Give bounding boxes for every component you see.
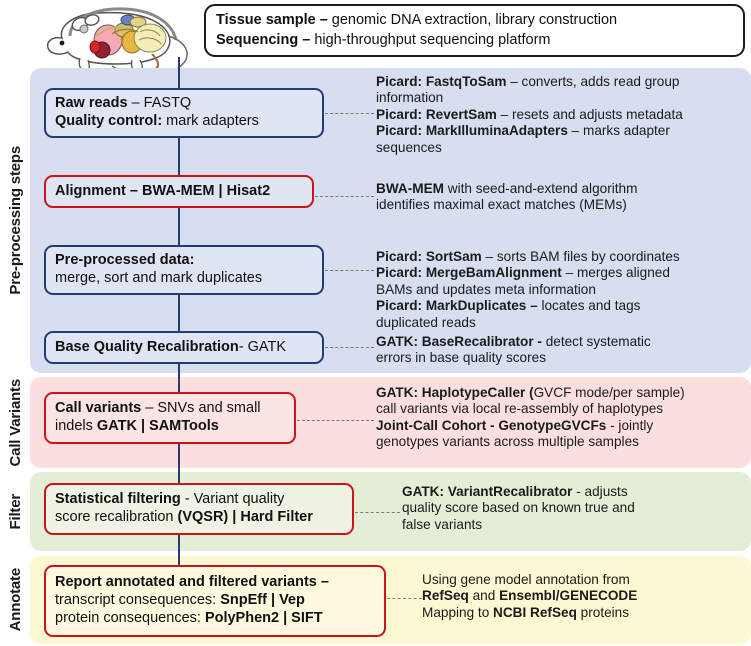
note-bqsr: GATK: BaseRecalibrator - detect systemat… [376, 334, 748, 367]
step-alignment-line1: Alignment – BWA-MEM | Hisat2 [55, 183, 303, 201]
header-line-tissue: Tissue sample – genomic DNA extraction, … [216, 11, 733, 30]
step-box-alignment[interactable]: Alignment – BWA-MEM | Hisat2 [44, 175, 314, 208]
note-filtering-line-2: false variants [402, 517, 748, 533]
note-bqsr-text-0: detect systematic [542, 334, 651, 349]
step-report-line3: protein consequences: PolyPhen2 | SIFT [55, 610, 375, 628]
note-bqsr-line-1: errors in base quality scores [376, 350, 748, 366]
step-raw-reads-qc-text: mark adapters [162, 113, 259, 129]
note-preprocessed-line-4: duplicated reads [376, 315, 748, 331]
note-raw-reads-line-3: Picard: MarkIlluminaAdapters – marks ada… [376, 123, 748, 139]
note-raw-reads-bold-0: Picard: FastqToSam [376, 74, 506, 89]
stage-label-call-variants-text: Call Variants [7, 379, 24, 466]
connector-preprocessed [325, 270, 374, 271]
stage-label-annotate: Annotate [0, 556, 30, 644]
header-sequencing-label: Sequencing – [216, 32, 314, 48]
note-annotation-bold2-2: NCBI RefSeq [493, 605, 577, 620]
step-filtering-recal-text: score recalibration [55, 509, 178, 525]
step-box-pre-processed-data[interactable]: Pre-processed data: merge, sort and mark… [44, 245, 324, 295]
note-call-variants: GATK: HaplotypeCaller (GVCF mode/per sam… [376, 385, 748, 451]
tissue-sequencing-header: Tissue sample – genomic DNA extraction, … [204, 4, 745, 57]
note-call-variants-line-2: Joint-Call Cohort - GenotypeGVCFs - join… [376, 418, 748, 434]
note-annotation-bold2-1: Ensembl/GENECODE [499, 588, 637, 603]
note-call-variants-text-3: genotypes variants across multiple sampl… [376, 434, 639, 449]
note-raw-reads-text-1: information [376, 90, 443, 105]
note-raw-reads-line-0: Picard: FastqToSam – converts, adds read… [376, 74, 748, 90]
note-preprocessed-text-3: locates and tags [538, 298, 641, 313]
note-annotation-line-0: Using gene model annotation from [422, 572, 748, 588]
note-preprocessed-line-3: Picard: MarkDuplicates – locates and tag… [376, 298, 748, 314]
note-preprocessed-bold-1: Picard: MergeBamAlignment [376, 265, 562, 280]
step-bqsr-title: Base Quality Recalibration [55, 339, 239, 355]
note-call-variants-line-0: GATK: HaplotypeCaller (GVCF mode/per sam… [376, 385, 748, 401]
step-bqsr-tool: - GATK [239, 339, 286, 355]
note-preprocessed-text-1: – merges aligned [562, 265, 670, 280]
step-report-line2: transcript consequences: SnpEff | Vep [55, 592, 375, 610]
note-bqsr-line-0: GATK: BaseRecalibrator - detect systemat… [376, 334, 748, 350]
note-call-variants-bold-2: Joint-Call Cohort - GenotypeGVCFs [376, 418, 606, 433]
note-preprocessed-text-4: duplicated reads [376, 315, 476, 330]
step-report-protein-tools: PolyPhen2 | SIFT [205, 610, 323, 626]
note-bqsr-bold-0: GATK: BaseRecalibrator - [376, 334, 542, 349]
note-bqsr-text-1: errors in base quality scores [376, 350, 546, 365]
step-callvariants-indels-text: indels [55, 418, 97, 434]
step-box-base-quality-recalibration[interactable]: Base Quality Recalibration- GATK [44, 331, 324, 364]
step-raw-reads-title: Raw reads [55, 95, 128, 111]
note-annotation-text-2: Mapping to [422, 605, 493, 620]
note-preprocessed-text-0: – sorts BAM files by coordinates [482, 249, 680, 264]
note-raw-reads-line-1: information [376, 90, 748, 106]
step-report-transcript-tools: SnpEff | Vep [220, 592, 305, 608]
step-alignment-title: Alignment – BWA-MEM | Hisat2 [55, 183, 270, 199]
step-report-protein-text: protein consequences: [55, 610, 205, 626]
note-call-variants-text-2: - jointly [606, 418, 653, 433]
step-preprocessed-line1: Pre-processed data: [55, 252, 313, 270]
note-annotation-text2-2: proteins [577, 605, 629, 620]
workflow-diagram: Tissue sample – genomic DNA extraction, … [0, 0, 751, 646]
note-preprocessed-text-2: BAMs and updates meta information [376, 282, 596, 297]
step-report-title: Report annotated and filtered variants – [55, 574, 329, 590]
note-raw-reads-line-2: Picard: RevertSam – resets and adjusts m… [376, 107, 748, 123]
step-raw-reads-line1: Raw reads – FASTQ [55, 95, 313, 113]
connector-filtering [355, 512, 400, 513]
step-callvariants-title: Call variants [55, 400, 141, 416]
stage-label-call-variants: Call Variants [0, 377, 30, 468]
stage-label-annotate-text: Annotate [7, 568, 24, 631]
connector-call-variants [297, 420, 374, 421]
header-tissue-label: Tissue sample – [216, 12, 332, 28]
note-raw-reads-text-3: – marks adapter [568, 123, 670, 138]
step-filtering-subtitle: - Variant quality [181, 491, 285, 507]
header-line-sequencing: Sequencing – high-throughput sequencing … [216, 31, 733, 50]
stage-label-pre-processing-text: Pre-processing steps [7, 146, 24, 295]
connector-alignment [315, 196, 374, 197]
connector-raw-reads [325, 113, 374, 114]
connector-annotation [387, 598, 422, 599]
step-filtering-title: Statistical filtering [55, 491, 181, 507]
note-preprocessed-line-2: BAMs and updates meta information [376, 282, 748, 298]
note-call-variants-text-1: call variants via local re-assembly of h… [376, 401, 663, 416]
note-preprocessed-bold-0: Picard: SortSam [376, 249, 482, 264]
note-alignment-line-0: BWA-MEM with seed-and-extend algorithm [376, 181, 748, 197]
step-box-statistical-filtering[interactable]: Statistical filtering - Variant quality … [44, 483, 354, 535]
note-raw-reads-bold-2: Picard: RevertSam [376, 107, 497, 122]
note-annotation-bold-1: RefSeq [422, 588, 469, 603]
header-tissue-text: genomic DNA extraction, library construc… [332, 12, 617, 28]
note-filtering-text-0: - adjusts [572, 484, 627, 499]
step-callvariants-tools: GATK | SAMTools [97, 418, 219, 434]
step-preprocessed-title: Pre-processed data: [55, 252, 194, 268]
note-preprocessed-line-0: Picard: SortSam – sorts BAM files by coo… [376, 249, 748, 265]
connector-bqsr [325, 347, 374, 348]
note-filtering-line-0: GATK: VariantRecalibrator - adjusts [402, 484, 748, 500]
note-preprocessed-bold-3: Picard: MarkDuplicates – [376, 298, 538, 313]
step-filtering-line2: score recalibration (VQSR) | Hard Filter [55, 509, 343, 527]
note-call-variants-bold-0: GATK: HaplotypeCaller ( [376, 385, 534, 400]
step-filtering-line1: Statistical filtering - Variant quality [55, 491, 343, 509]
note-filtering-text-1: quality score based on known true and [402, 500, 635, 515]
step-report-transcript-text: transcript consequences: [55, 592, 220, 608]
note-preprocessed: Picard: SortSam – sorts BAM files by coo… [376, 249, 748, 331]
note-alignment: BWA-MEM with seed-and-extend algorithm i… [376, 181, 748, 214]
note-filtering: GATK: VariantRecalibrator - adjusts qual… [402, 484, 748, 533]
step-raw-reads-line2: Quality control: mark adapters [55, 113, 313, 131]
note-raw-reads-text-4: sequences [376, 140, 442, 155]
note-annotation-line-2: Mapping to NCBI RefSeq proteins [422, 605, 748, 621]
header-sequencing-text: high-throughput sequencing platform [314, 32, 550, 48]
note-alignment-line-1: identifies maximal exact matches (MEMs) [376, 197, 748, 213]
step-raw-reads-qc-label: Quality control: [55, 113, 162, 129]
note-raw-reads-text-0: – converts, adds read group [506, 74, 679, 89]
note-call-variants-text-0: GVCF mode/per sample) [534, 385, 685, 400]
note-annotation: Using gene model annotation from RefSeq … [422, 572, 748, 621]
note-filtering-line-1: quality score based on known true and [402, 500, 748, 516]
note-alignment-text-0: with seed-and-extend algorithm [444, 181, 637, 196]
note-annotation-line-1: RefSeq and Ensembl/GENECODE [422, 588, 748, 604]
step-report-line1: Report annotated and filtered variants – [55, 574, 375, 592]
stage-label-filter-text: Filter [7, 494, 24, 529]
note-call-variants-line-3: genotypes variants across multiple sampl… [376, 434, 748, 450]
step-box-raw-reads[interactable]: Raw reads – FASTQ Quality control: mark … [44, 88, 324, 138]
step-bqsr-line1: Base Quality Recalibration- GATK [55, 339, 313, 357]
step-preprocessed-line2: merge, sort and mark duplicates [55, 270, 313, 288]
note-alignment-bold-0: BWA-MEM [376, 181, 444, 196]
step-box-call-variants[interactable]: Call variants – SNVs and small indels GA… [44, 392, 296, 444]
note-raw-reads-text-2: – resets and adjusts metadata [497, 107, 683, 122]
note-filtering-bold-0: GATK: VariantRecalibrator [402, 484, 572, 499]
step-filtering-methods: (VQSR) | Hard Filter [178, 509, 313, 525]
stage-label-filter: Filter [0, 472, 30, 551]
stage-label-pre-processing: Pre-processing steps [0, 68, 30, 373]
note-annotation-text-1: and [469, 588, 499, 603]
note-annotation-text-0: Using gene model annotation from [422, 572, 630, 587]
note-raw-reads-line-4: sequences [376, 140, 748, 156]
step-box-report-variants[interactable]: Report annotated and filtered variants –… [44, 565, 386, 637]
step-callvariants-line1: Call variants – SNVs and small [55, 400, 285, 418]
note-alignment-text-1: identifies maximal exact matches (MEMs) [376, 197, 627, 212]
note-call-variants-line-1: call variants via local re-assembly of h… [376, 401, 748, 417]
note-preprocessed-line-1: Picard: MergeBamAlignment – merges align… [376, 265, 748, 281]
step-callvariants-subtitle: – SNVs and small [141, 400, 260, 416]
note-raw-reads: Picard: FastqToSam – converts, adds read… [376, 74, 748, 156]
step-raw-reads-subtitle: – FASTQ [128, 95, 192, 111]
note-filtering-text-2: false variants [402, 517, 482, 532]
note-raw-reads-bold-3: Picard: MarkIlluminaAdapters [376, 123, 568, 138]
step-callvariants-line2: indels GATK | SAMTools [55, 418, 285, 436]
